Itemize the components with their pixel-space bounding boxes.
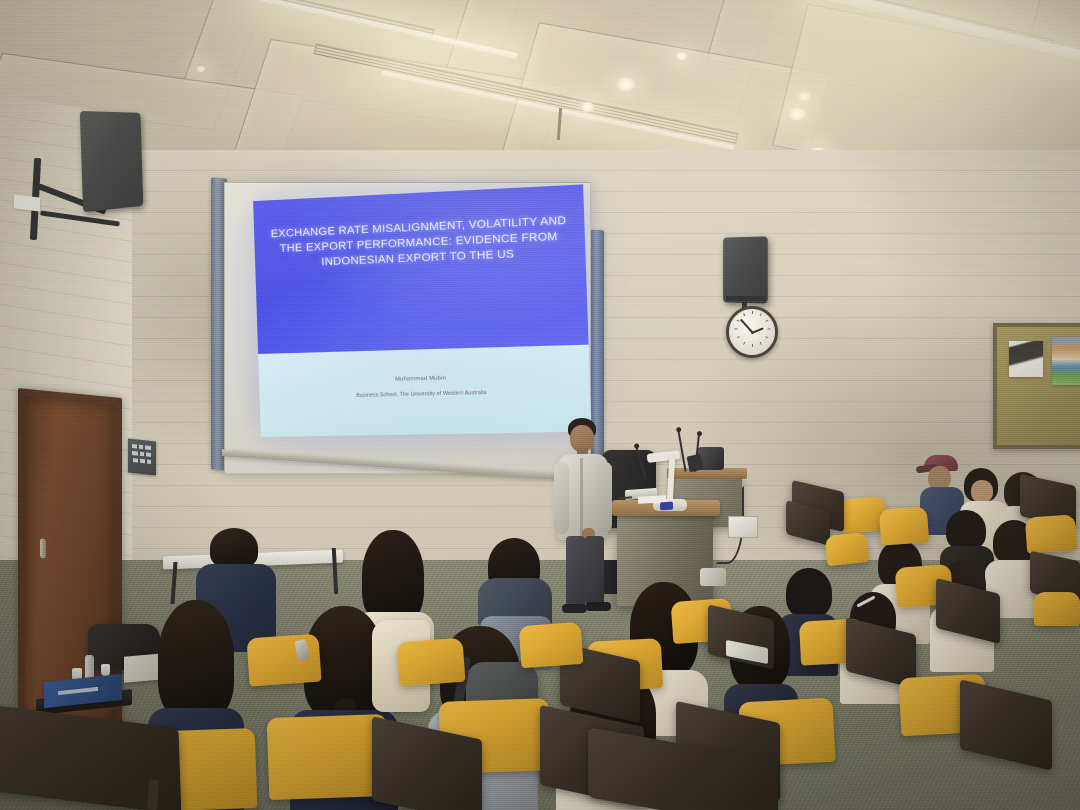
lecture-seat[interactable]: [1034, 592, 1080, 626]
lecture-seat[interactable]: [825, 532, 870, 566]
ceiling-downlight: [676, 52, 688, 60]
presenter-arm-right: [596, 462, 612, 532]
lecture-seat[interactable]: [397, 638, 466, 686]
projected-slide: EXCHANGE RATE MISALIGNMENT, VOLATILITY A…: [253, 184, 591, 437]
lecture-seat[interactable]: [246, 634, 321, 687]
presenter-shoe-right: [586, 602, 611, 611]
slide-affiliation: Business School, The University of Weste…: [259, 388, 590, 401]
ceiling-downlight: [196, 66, 206, 72]
paper-cup: [101, 664, 110, 676]
ceiling-downlight: [580, 102, 595, 112]
notice-poster: [1009, 341, 1043, 377]
ceiling-downlight: [788, 108, 806, 120]
slide-author: Muhammad Mubin: [259, 372, 590, 386]
lecture-seat[interactable]: [267, 714, 390, 800]
audience-head: [971, 480, 993, 503]
wall-clock: [726, 306, 778, 358]
audience-hair: [158, 600, 234, 720]
ceiling-downlight: [798, 92, 811, 101]
wall-speaker-right: [723, 236, 768, 303]
av-device: [686, 454, 703, 473]
lecture-theatre-photo: EXCHANGE RATE MISALIGNMENT, VOLATILITY A…: [0, 0, 1080, 810]
lecture-seat[interactable]: [1025, 514, 1077, 553]
door-handle[interactable]: [40, 538, 46, 559]
notice-poster: [1052, 337, 1080, 385]
floor-socket-plate: [728, 516, 758, 538]
presenter-leg-left: [566, 536, 585, 608]
clock-center-pin: [751, 331, 754, 334]
door-keypad-sign[interactable]: [128, 439, 156, 476]
audience-hair: [210, 528, 258, 568]
presenter-leg-right: [585, 536, 604, 606]
lecture-seat[interactable]: [519, 622, 584, 668]
ceiling-downlight: [616, 78, 636, 91]
presenter-shoe-left: [562, 604, 587, 613]
phone[interactable]: [660, 502, 673, 511]
wall-speaker-left: [80, 111, 143, 212]
presenter: [552, 418, 616, 618]
presenter-shirt-placket: [580, 458, 583, 536]
presenter-arm-left: [554, 462, 569, 534]
cork-notice-board: [993, 323, 1080, 449]
lecture-seat[interactable]: [879, 506, 929, 545]
audience-hair: [946, 510, 986, 550]
